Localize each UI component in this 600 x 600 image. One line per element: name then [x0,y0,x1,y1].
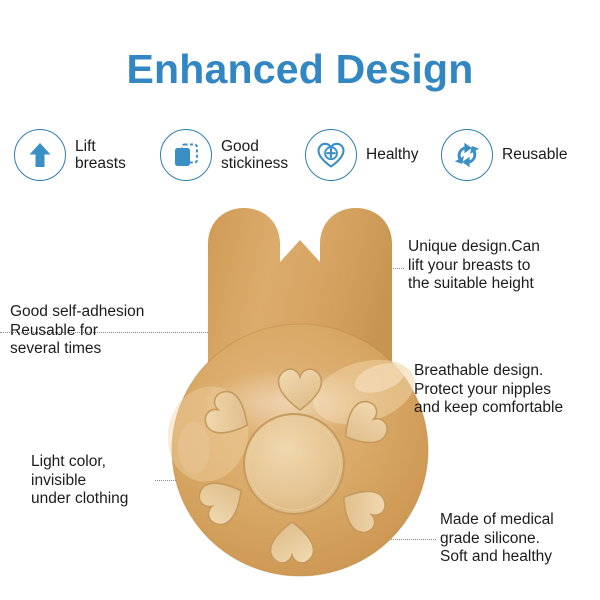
page-title: Enhanced Design [0,46,600,93]
feature-healthy[interactable]: Healthy [305,121,419,189]
product-image-silicone-lift-pad [168,196,432,588]
feature-good-stickiness[interactable]: Good stickiness [160,121,288,189]
feature-label: Healthy [366,146,419,164]
callout-breathable-design: Breathable design. Protect your nipples … [414,362,600,418]
product-center-pad [244,414,344,514]
feature-icon-circle [305,129,357,181]
heart-plus-icon [315,139,347,171]
callout-unique-design: Unique design.Can lift your breasts to t… [408,238,598,294]
up-arrow-icon [25,140,55,170]
callout-light-color: Light color, invisible under clothing [31,453,211,509]
infographic-page: Enhanced Design Lift breasts Good sticki… [0,0,600,600]
feature-icon-circle [14,129,66,181]
callout-self-adhesion: Good self-adhesion Reusable for several … [10,303,210,359]
recycle-arrows-icon [451,139,483,171]
feature-label: Good stickiness [221,138,288,173]
feature-icon-circle [160,129,212,181]
product-illustration [168,196,432,588]
sticky-layers-icon [171,140,201,170]
feature-lift-breasts[interactable]: Lift breasts [14,121,126,189]
feature-icon-circle [441,129,493,181]
callout-medical-silicone: Made of medical grade silicone. Soft and… [440,511,600,567]
feature-badge-row: Lift breasts Good stickiness Healthy [14,121,590,189]
feature-reusable[interactable]: Reusable [441,121,568,189]
feature-label: Reusable [502,146,568,164]
feature-label: Lift breasts [75,138,126,173]
